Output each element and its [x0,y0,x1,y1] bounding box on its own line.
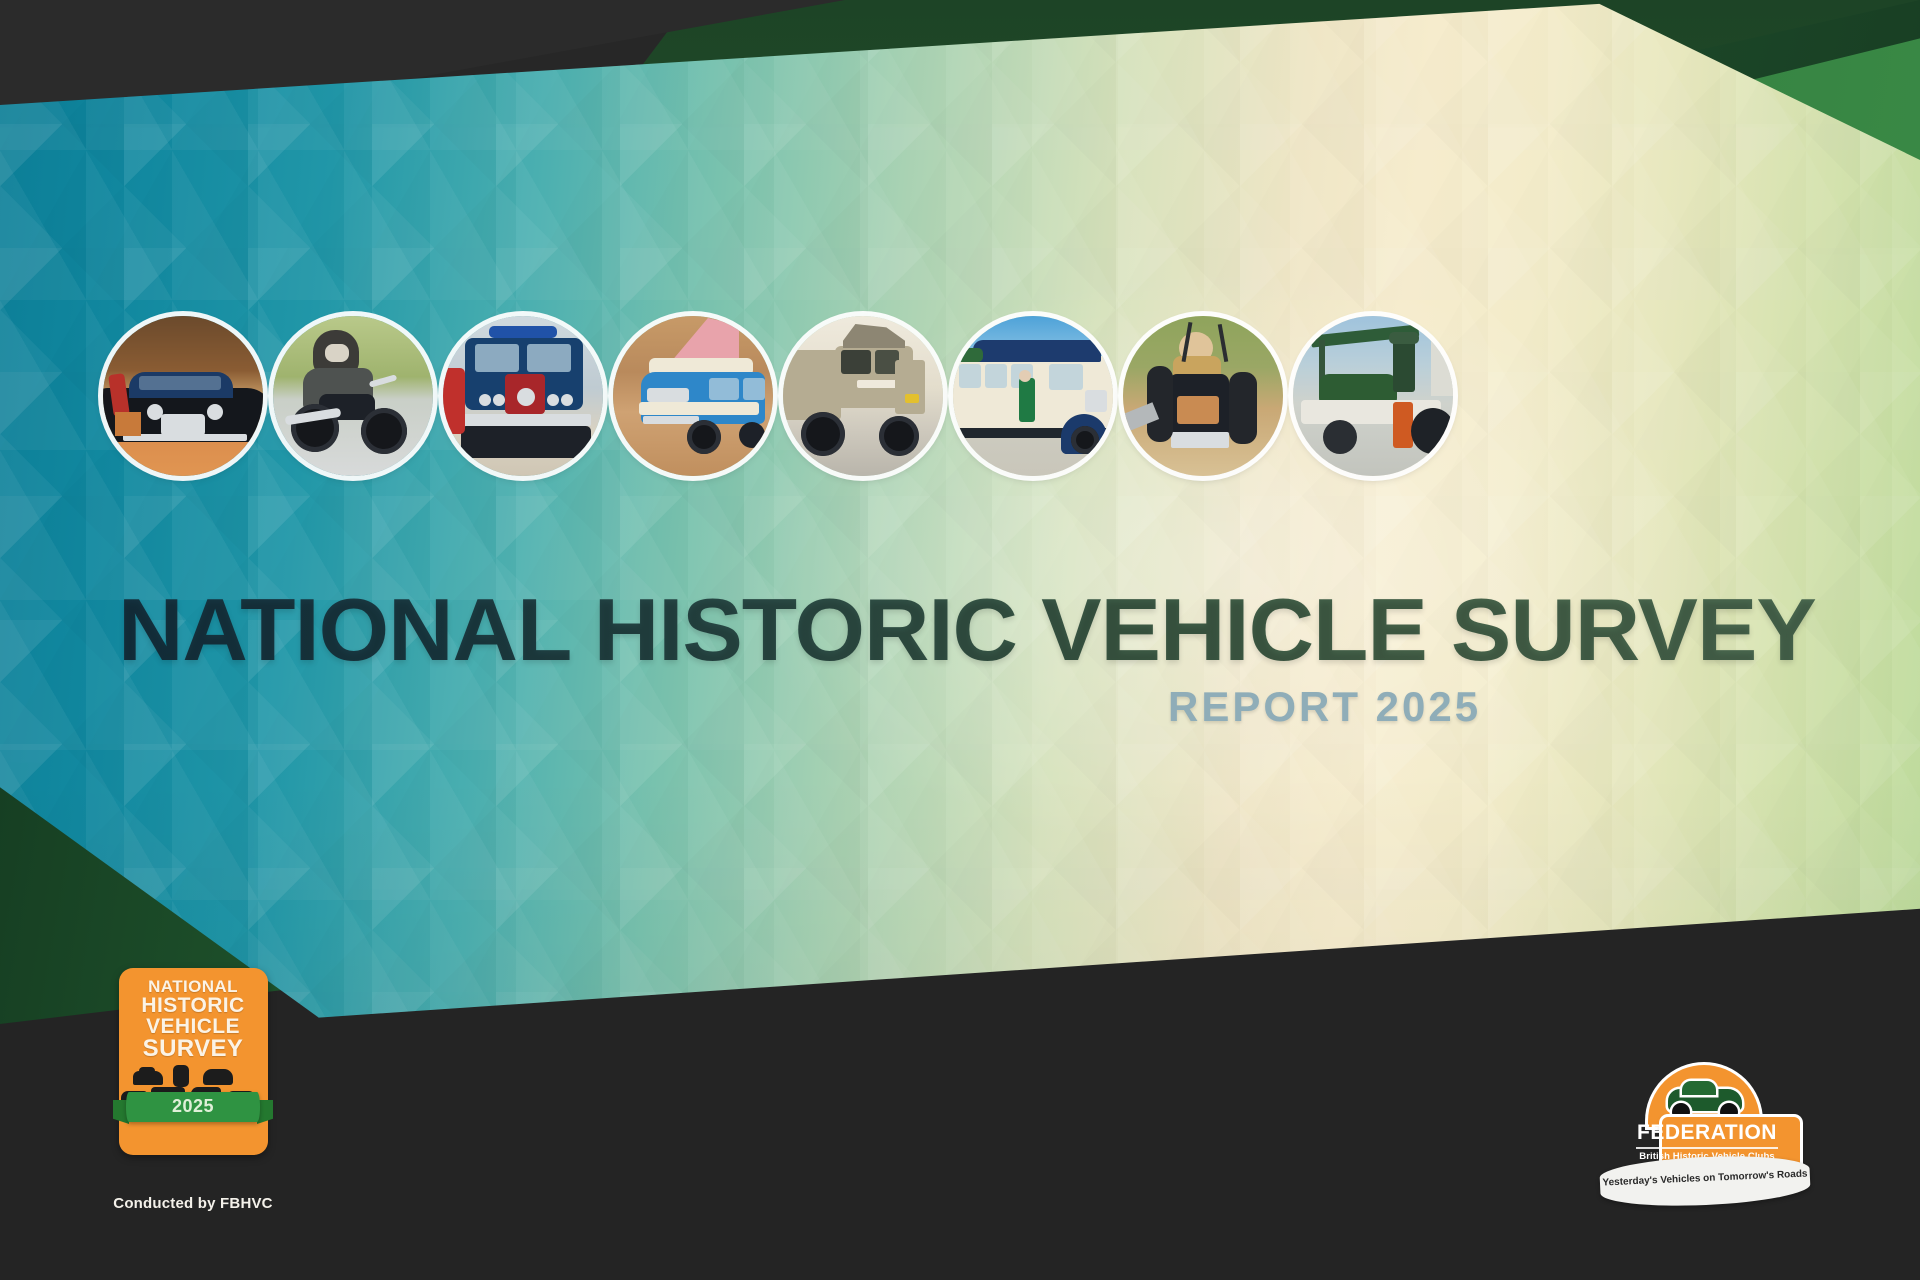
vehicle-circle-steam-traction-engine[interactable] [1293,316,1453,476]
vehicle-circle-campervan[interactable] [613,316,773,476]
vehicle-circle-vintage-tractor[interactable] [1123,316,1283,476]
vehicle-circle-classic-sports-car[interactable] [103,316,263,476]
badge-line-survey: SURVEY [125,1037,262,1061]
vehicle-circle-strip [103,316,1483,476]
badge-caption: Conducted by FBHVC [113,1195,273,1212]
badge-line-national: NATIONAL [125,978,262,995]
report-cover-page: NATIONAL HISTORIC VEHICLE SURVEY REPORT … [0,0,1920,1280]
fbhvc-logo[interactable]: FEDERATION British Historic Vehicle Club… [1600,1065,1810,1210]
badge-year: 2025 [113,1096,273,1117]
survey-badge[interactable]: NATIONAL HISTORIC VEHICLE SURVEY 2025 Co… [113,968,273,1212]
cover-title-block: NATIONAL HISTORIC VEHICLE SURVEY [118,590,1798,671]
badge-year-ribbon: 2025 [113,1092,273,1128]
vehicle-circle-vintage-coach[interactable] [953,316,1113,476]
vehicle-circle-fire-engine[interactable] [443,316,603,476]
fbhvc-title: FEDERATION [1622,1121,1792,1145]
badge-line-historic: HISTORIC [125,995,262,1016]
badge-line-vehicle: VEHICLE [125,1016,262,1037]
cover-subtitle: REPORT 2025 [1168,683,1481,731]
page-title: NATIONAL HISTORIC VEHICLE SURVEY [118,590,1848,671]
vehicle-circle-military-truck[interactable] [783,316,943,476]
vehicle-circle-motorcycle-rider[interactable] [273,316,433,476]
